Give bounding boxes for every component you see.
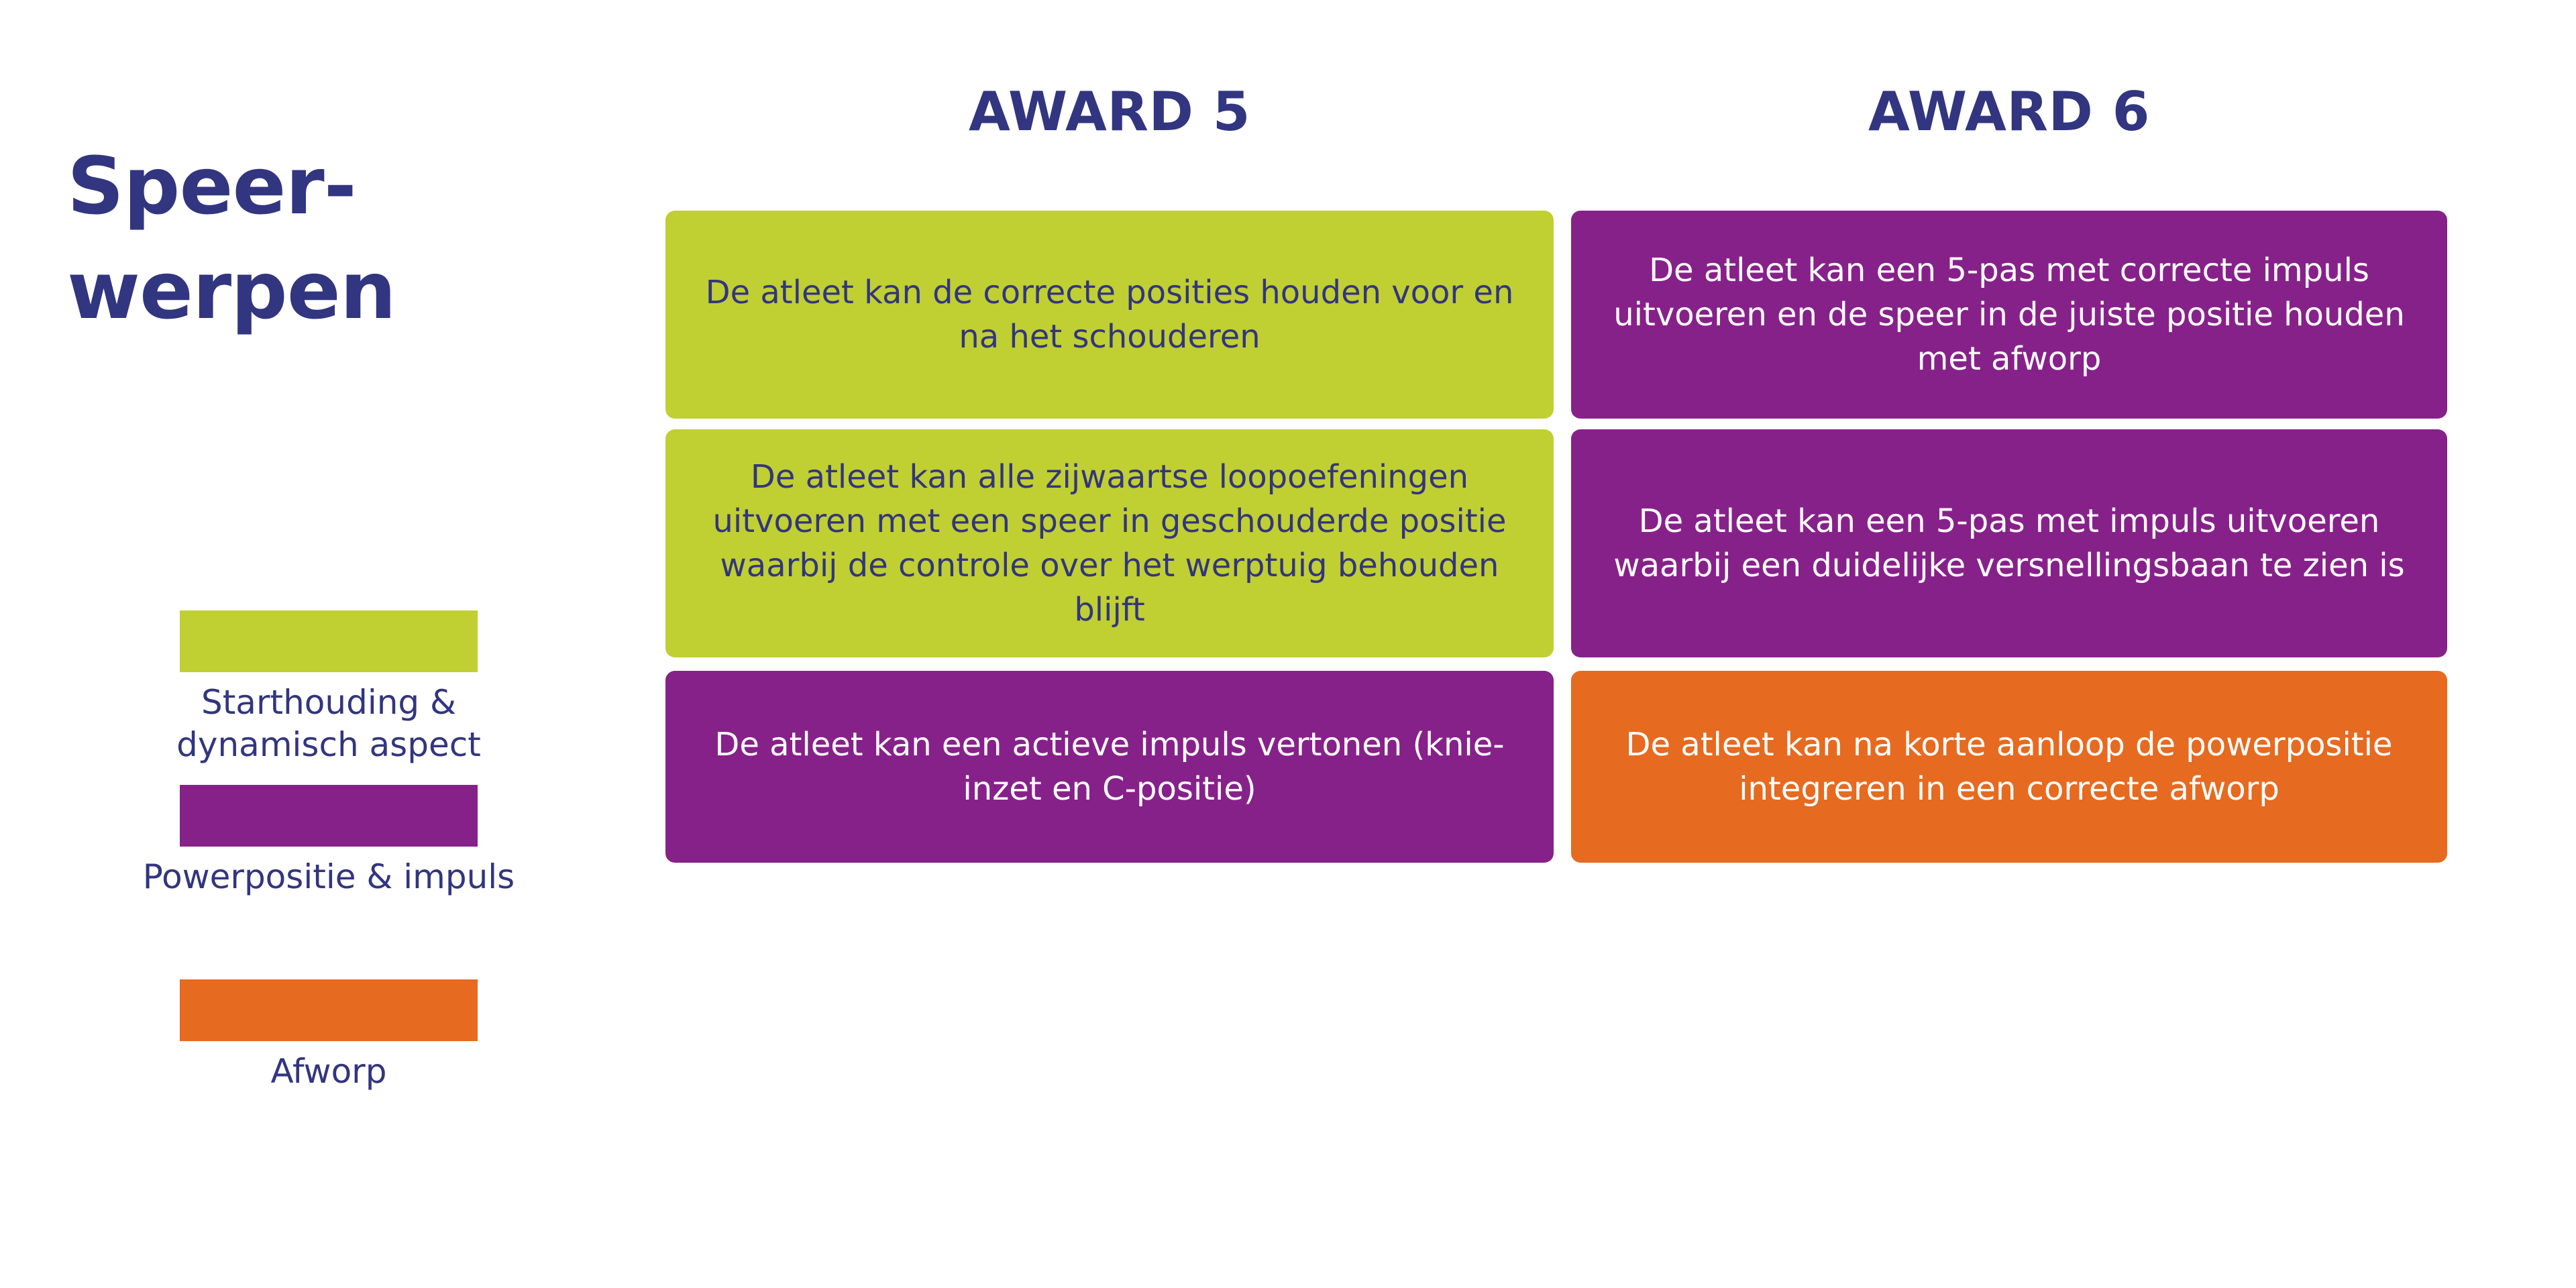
legend-label-starthouding: Starthouding & dynamisch aspect bbox=[0, 682, 657, 766]
page-title: Speer- werpen bbox=[67, 134, 604, 343]
criterion-text: De atleet kan na korte aanloop de powerp… bbox=[1594, 722, 2424, 811]
criterion-text: De atleet kan een actieve impuls vertone… bbox=[688, 722, 1531, 811]
criterion-card: De atleet kan na korte aanloop de powerp… bbox=[1571, 671, 2447, 863]
legend-swatch-afworp bbox=[180, 979, 478, 1041]
criterion-text: De atleet kan een 5-pas met impuls uitvo… bbox=[1594, 499, 2424, 588]
criterion-card: De atleet kan de correcte posities houde… bbox=[665, 211, 1554, 419]
legend-item-starthouding: Starthouding & dynamisch aspect bbox=[0, 610, 657, 766]
criterion-card: De atleet kan een 5-pas met correcte imp… bbox=[1571, 211, 2447, 419]
legend-item-afworp: Afworp bbox=[0, 979, 657, 1093]
column-header-award-6: AWARD 6 bbox=[1571, 80, 2447, 143]
criterion-text: De atleet kan de correcte posities houde… bbox=[688, 270, 1531, 359]
criterion-text: De atleet kan een 5-pas met correcte imp… bbox=[1594, 248, 2424, 382]
legend-label-afworp: Afworp bbox=[0, 1051, 657, 1093]
legend-item-powerpositie: Powerpositie & impuls bbox=[0, 785, 657, 898]
criterion-card: De atleet kan alle zijwaartse loopoefeni… bbox=[665, 429, 1554, 657]
slide-canvas: Speer- werpen Starthouding & dynamisch a… bbox=[0, 0, 2576, 1288]
criterion-card: De atleet kan een actieve impuls vertone… bbox=[665, 671, 1554, 863]
legend-label-powerpositie: Powerpositie & impuls bbox=[0, 856, 657, 898]
legend-swatch-powerpositie bbox=[180, 785, 478, 847]
column-header-award-5: AWARD 5 bbox=[665, 80, 1554, 143]
criterion-card: De atleet kan een 5-pas met impuls uitvo… bbox=[1571, 429, 2447, 657]
criterion-text: De atleet kan alle zijwaartse loopoefeni… bbox=[688, 455, 1531, 633]
legend-swatch-starthouding bbox=[180, 610, 478, 672]
